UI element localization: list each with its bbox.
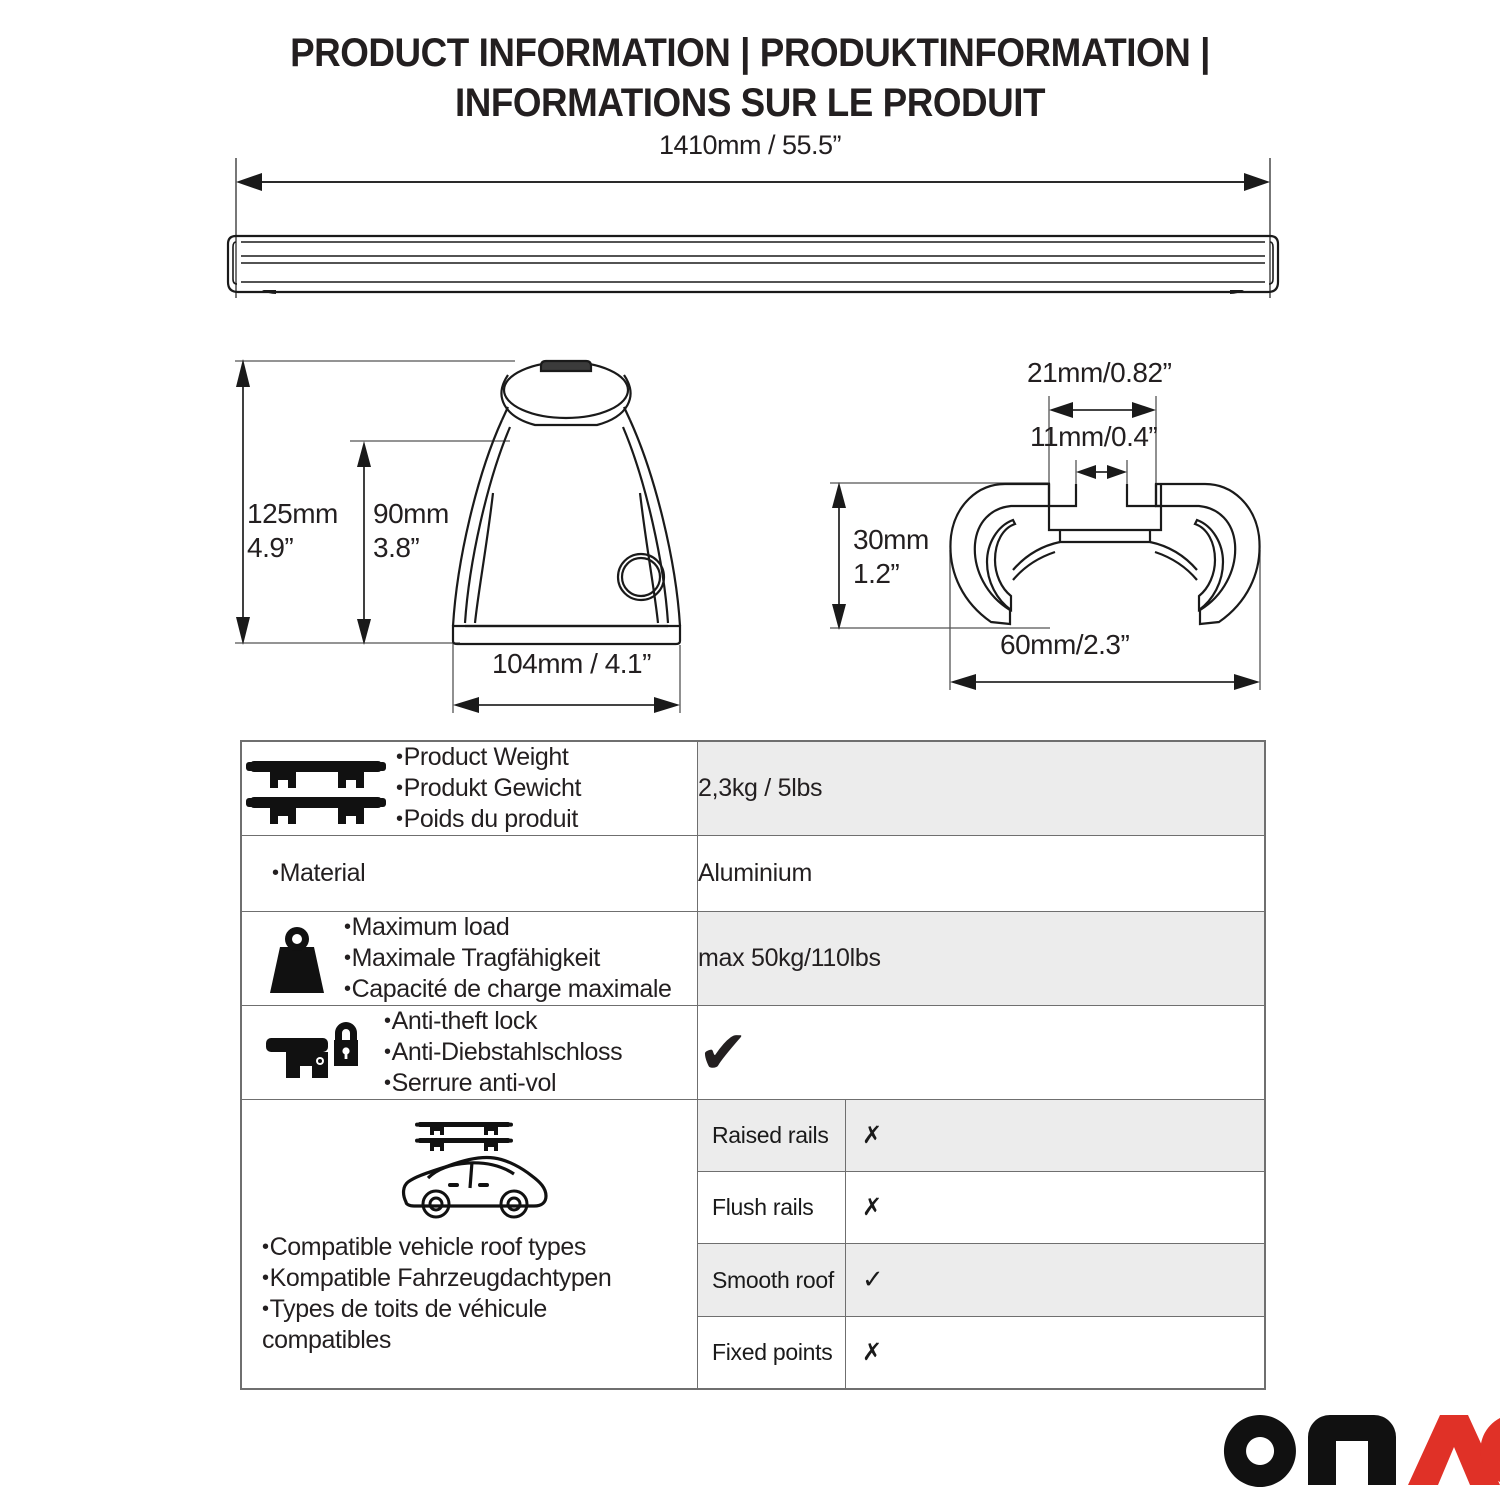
profile-dimension-diagram: 21mm/0.82” 11mm/0.4” 30mm 1.2” 60mm/2.3” xyxy=(805,360,1305,700)
roof-type-mark: ✗ xyxy=(846,1317,1265,1389)
label-fr: Capacité de charge maximale xyxy=(344,974,672,1005)
roof-bars-icon xyxy=(242,749,390,829)
spec-label-cell: Maximum load Maximale Tragfähigkeit Capa… xyxy=(242,912,698,1006)
foot-height-inner-mm: 90mm xyxy=(373,498,449,529)
label-fr: Types de toits de véhicule xyxy=(262,1294,687,1325)
table-row: Anti-theft lock Anti-Diebstahlschloss Se… xyxy=(242,1006,1265,1100)
spec-label-cell: Anti-theft lock Anti-Diebstahlschloss Se… xyxy=(242,1006,698,1100)
label-en: Anti-theft lock xyxy=(384,1006,622,1037)
roof-type-name: Flush rails xyxy=(698,1172,846,1244)
spec-label-cell: Product Weight Produkt Gewicht Poids du … xyxy=(242,742,698,836)
roof-type-row: Flush rails ✗ xyxy=(698,1172,1264,1244)
profile-slot-inner-label: 11mm/0.4” xyxy=(1030,420,1157,454)
title-line-2: INFORMATIONS SUR LE PRODUIT xyxy=(60,78,1440,128)
table-row: Product Weight Produkt Gewicht Poids du … xyxy=(242,742,1265,836)
label-en: Compatible vehicle roof types xyxy=(262,1232,687,1263)
check-mark-icon: ✓ xyxy=(862,1264,884,1294)
omac-logo-mark xyxy=(1222,1413,1500,1487)
foot-height-total-mm: 125mm xyxy=(247,498,338,529)
roof-type-row: Fixed points ✗ xyxy=(698,1317,1264,1389)
label-fr-cont: compatibles xyxy=(262,1325,687,1356)
foot-height-total-label: 125mm 4.9” xyxy=(247,497,338,565)
page-title: PRODUCT INFORMATION | PRODUKTINFORMATION… xyxy=(0,28,1500,128)
label-de: Produkt Gewicht xyxy=(396,773,581,804)
foot-height-inner-label: 90mm 3.8” xyxy=(373,497,449,565)
omac-logo xyxy=(1222,1413,1500,1487)
roof-types-label-cell: Compatible vehicle roof types Kompatible… xyxy=(242,1100,698,1389)
product-spec-table: Product Weight Produkt Gewicht Poids du … xyxy=(240,740,1266,1390)
label-de: Maximale Tragfähigkeit xyxy=(344,943,672,974)
weight-icon xyxy=(264,921,330,997)
profile-height-mm: 30mm xyxy=(853,524,929,555)
roof-types-label-text: Compatible vehicle roof types Kompatible… xyxy=(262,1232,687,1356)
cross-icon: ✗ xyxy=(862,1194,882,1221)
label-de: Kompatible Fahrzeugdachtypen xyxy=(262,1263,687,1294)
profile-height-in: 1.2” xyxy=(853,558,899,589)
lock-icon xyxy=(262,1020,362,1086)
spec-value-antitheft: ✔ xyxy=(698,1006,1265,1100)
foot-height-total-in: 4.9” xyxy=(247,532,293,563)
label-fr: Serrure anti-vol xyxy=(384,1068,622,1099)
spec-label-cell: Material xyxy=(242,836,698,912)
spec-label-text: Material xyxy=(272,858,697,889)
roof-type-mark: ✓ xyxy=(846,1244,1265,1317)
roof-type-name: Raised rails xyxy=(698,1100,846,1172)
roof-type-name: Smooth roof xyxy=(698,1244,846,1317)
spec-value-material: Aluminium xyxy=(698,836,1265,912)
logo-ac-red xyxy=(1408,1415,1500,1485)
table-row: Material Aluminium xyxy=(242,836,1265,912)
label-en: Material xyxy=(272,858,697,889)
spec-value-weight: 2,3kg / 5lbs xyxy=(698,742,1265,836)
profile-height-label: 30mm 1.2” xyxy=(853,523,929,591)
foot-base-width-label: 104mm / 4.1” xyxy=(492,647,651,681)
roof-types-matrix-cell: Raised rails ✗ Flush rails ✗ Smooth roof… xyxy=(698,1100,1265,1389)
profile-slot-outer-label: 21mm/0.82” xyxy=(1027,356,1171,390)
cross-icon: ✗ xyxy=(862,1122,882,1149)
roof-type-row: Raised rails ✗ xyxy=(698,1100,1264,1172)
spec-label-text: Product Weight Produkt Gewicht Poids du … xyxy=(396,742,581,835)
roof-type-mark: ✗ xyxy=(846,1172,1265,1244)
profile-width-label: 60mm/2.3” xyxy=(1000,628,1129,662)
bar-length-label: 1410mm / 55.5” xyxy=(0,130,1500,161)
roof-type-name: Fixed points xyxy=(698,1317,846,1389)
label-en: Product Weight xyxy=(396,742,581,773)
label-fr: Poids du produit xyxy=(396,804,581,835)
spec-label-text: Maximum load Maximale Tragfähigkeit Capa… xyxy=(344,912,672,1005)
bar-length-diagram: 1410mm / 55.5” xyxy=(0,130,1500,320)
check-mark-icon: ✔ xyxy=(698,1018,748,1088)
title-line-1: PRODUCT INFORMATION | PRODUKTINFORMATION… xyxy=(60,28,1440,78)
label-en: Maximum load xyxy=(344,912,672,943)
spec-value-maxload: max 50kg/110lbs xyxy=(698,912,1265,1006)
logo-om-black xyxy=(1224,1415,1396,1487)
cross-icon: ✗ xyxy=(862,1339,882,1366)
roof-type-mark: ✗ xyxy=(846,1100,1265,1172)
label-de: Anti-Diebstahlschloss xyxy=(384,1037,622,1068)
roof-type-row: Smooth roof ✓ xyxy=(698,1244,1264,1317)
foot-dimension-diagram: 125mm 4.9” 90mm 3.8” 104mm / 4.1” xyxy=(225,345,725,715)
foot-height-inner-in: 3.8” xyxy=(373,532,419,563)
table-row: Compatible vehicle roof types Kompatible… xyxy=(242,1100,1265,1389)
car-with-rack-icon xyxy=(390,1114,560,1226)
spec-label-text: Anti-theft lock Anti-Diebstahlschloss Se… xyxy=(384,1006,622,1099)
table-row: Maximum load Maximale Tragfähigkeit Capa… xyxy=(242,912,1265,1006)
